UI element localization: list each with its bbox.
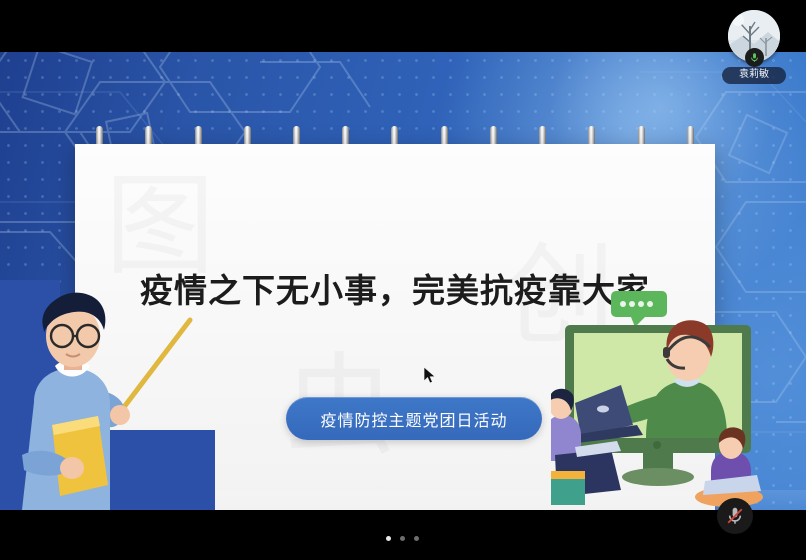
page-dot-3[interactable] <box>414 536 419 541</box>
page-dot-1[interactable] <box>386 536 391 541</box>
slide-cta-label: 疫情防控主题党团日活动 <box>320 407 507 431</box>
page-dot-2[interactable] <box>400 536 405 541</box>
chat-bubble-icon <box>611 291 667 327</box>
slide-cta-button[interactable]: 疫情防控主题党团日活动 <box>286 397 542 440</box>
online-class-monitor-illustration <box>551 285 806 510</box>
screen-share-view: 图 虫 创 疫情之下无小事，完美抗疫靠大家 疫情防控主题党团日活动 <box>0 0 806 560</box>
microphone-icon <box>749 52 760 63</box>
microphone-muted-icon <box>724 505 746 527</box>
mic-status-badge-overlay <box>745 48 764 67</box>
top-letterbox-bar <box>0 0 806 52</box>
shared-slide-stage[interactable]: 图 虫 创 疫情之下无小事，完美抗疫靠大家 疫情防控主题党团日活动 <box>0 52 806 510</box>
page-indicator[interactable] <box>386 536 419 541</box>
mute-toggle-button[interactable] <box>717 498 753 534</box>
bottom-control-bar <box>0 510 806 560</box>
participant-name-label-overlay: 袁莉敏 <box>722 67 786 84</box>
participant-thumbnail-overlay[interactable]: 袁莉敏 <box>726 10 782 88</box>
teacher-with-pointer-illustration <box>0 280 215 510</box>
